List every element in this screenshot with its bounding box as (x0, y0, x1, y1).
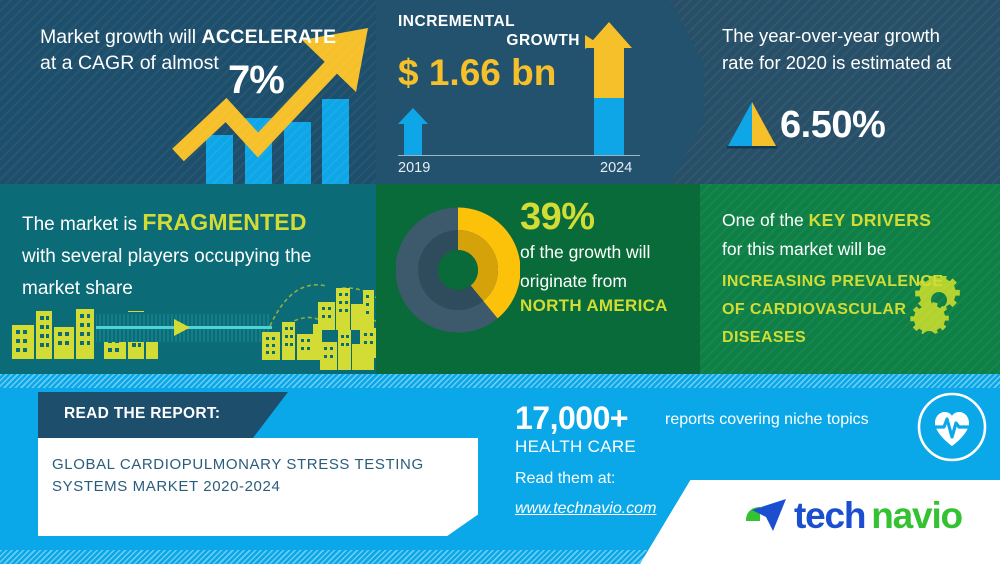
read-the-report-banner: READ THE REPORT: (38, 392, 288, 438)
brand-part2: navio (871, 495, 962, 537)
yoy-line2: rate for 2020 is estimated at (722, 52, 951, 73)
key-drivers-line2: for this market will be (722, 239, 886, 259)
key-drivers-detail-line1: INCREASING PREVALENCE (722, 273, 943, 290)
incremental-year-end: 2024 (600, 160, 632, 176)
incremental-year-start: 2019 (398, 160, 430, 176)
triangle-up-icon (722, 100, 786, 152)
cagr-line1-bold: ACCELERATE (201, 26, 336, 48)
north-america-text: of the growth will originate from (520, 238, 710, 296)
fragmented-line1-bold: FRAGMENTED (142, 209, 306, 235)
technavio-logo[interactable]: technavio (742, 495, 962, 537)
north-america-region: NORTH AMERICA (520, 296, 668, 316)
report-title-line1: GLOBAL CARDIOPULMONARY STRESS TESTING (52, 456, 424, 473)
fragmented-line2: with several players occupying the (22, 246, 311, 267)
report-count: 17,000+ (515, 400, 628, 437)
north-america-line2: originate from (520, 271, 627, 291)
cagr-value: 7% (228, 58, 284, 103)
key-drivers-detail-line2: OF CARDIOVASCULAR (722, 301, 906, 318)
report-title: GLOBAL CARDIOPULMONARY STRESS TESTING SY… (52, 454, 452, 498)
read-the-report-label: READ THE REPORT: (64, 405, 220, 423)
paper-plane-logo-icon (742, 496, 788, 536)
key-drivers-detail-line3: DISEASES (722, 329, 806, 346)
north-america-line1: of the growth will (520, 242, 650, 262)
cagr-headline: Market growth will ACCELERATE at a CAGR … (40, 24, 360, 76)
key-drivers-detail: INCREASING PREVALENCE OF CARDIOVASCULAR … (722, 268, 972, 352)
progress-connector-icon (96, 308, 272, 350)
report-count-suffix: reports covering niche topics (665, 411, 869, 429)
yoy-headline: The year-over-year growth rate for 2020 … (722, 22, 992, 76)
yoy-value: 6.50% (780, 104, 885, 147)
fragmented-line1-pre: The market is (22, 214, 142, 235)
panel-cagr: Market growth will ACCELERATE at a CAGR … (0, 0, 376, 184)
key-drivers-line1-bold: KEY DRIVERS (809, 210, 932, 230)
read-them-at-label: Read them at: (515, 470, 616, 488)
cagr-line2: at a CAGR of almost (40, 52, 219, 74)
donut-chart-icon (396, 206, 520, 334)
footer-top-texture (0, 374, 1000, 388)
incremental-arrow-bars-icon (376, 0, 670, 184)
infographic-stage: Market growth will ACCELERATE at a CAGR … (0, 0, 1000, 564)
key-drivers-line1-pre: One of the (722, 210, 809, 230)
report-title-line2: SYSTEMS MARKET 2020-2024 (52, 478, 280, 495)
website-url-link[interactable]: www.technavio.com (515, 500, 656, 518)
fragmented-line3: market share (22, 278, 133, 299)
cagr-line1-pre: Market growth will (40, 26, 201, 48)
sector-label: HEALTH CARE (515, 437, 636, 457)
city-buildings-icon (262, 316, 322, 360)
city-buildings-icon (360, 312, 376, 358)
north-america-value: 39% (520, 196, 595, 239)
incremental-axis-line (398, 155, 640, 156)
fragmented-headline: The market is FRAGMENTED with several pl… (22, 206, 372, 305)
heart-pulse-icon (915, 390, 989, 464)
yoy-line1: The year-over-year growth (722, 25, 940, 46)
key-drivers-headline: One of the KEY DRIVERS for this market w… (722, 206, 972, 264)
brand-part1: tech (794, 495, 865, 537)
